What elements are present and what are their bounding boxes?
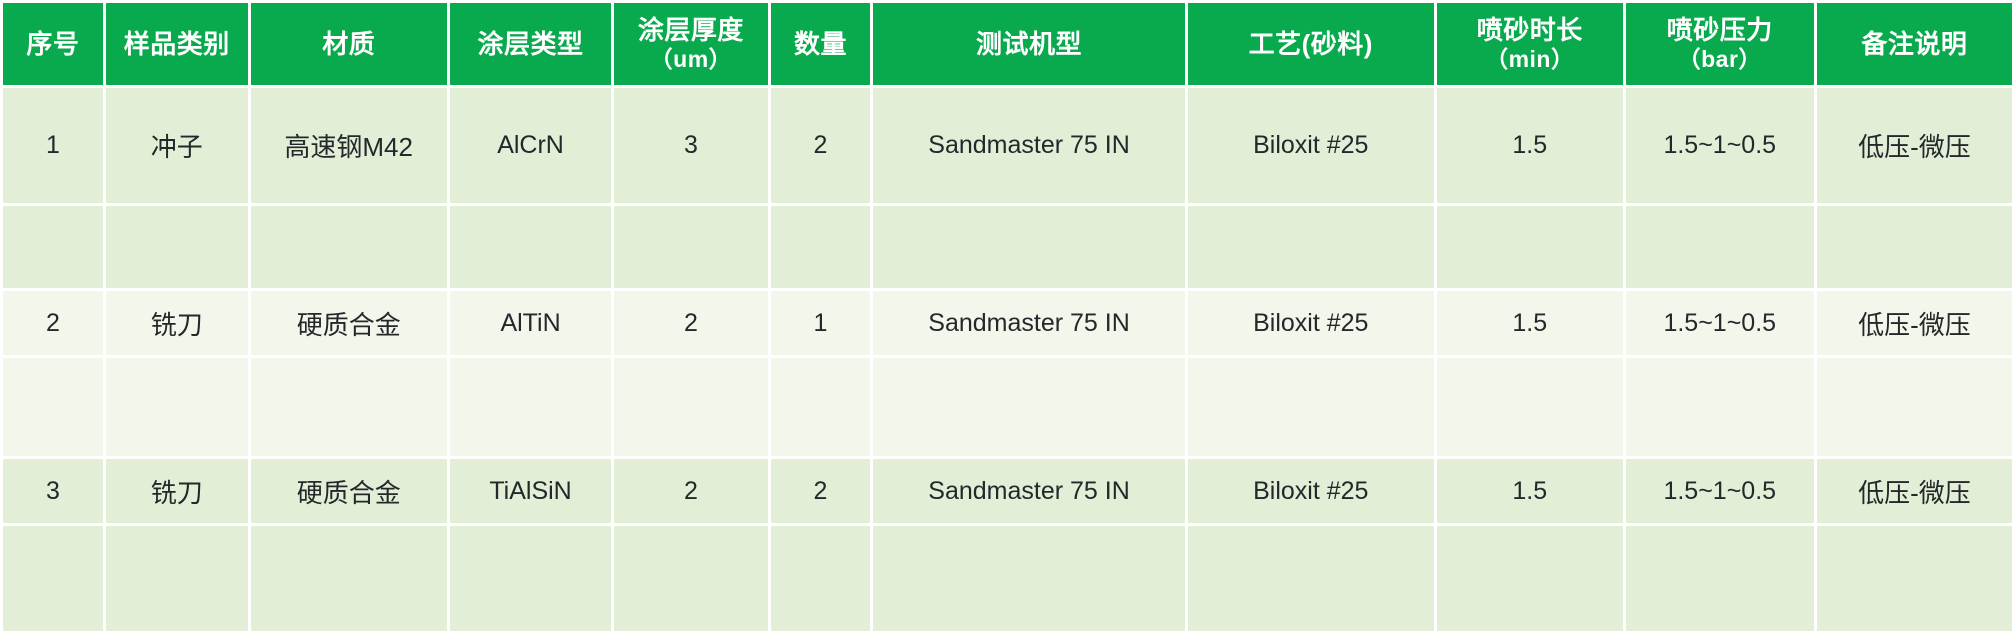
column-header-pressure[interactable]: 喷砂压力 （bar）: [1626, 3, 1814, 85]
cell-material: 硬质合金: [251, 291, 447, 355]
cell-seq: 3: [3, 459, 103, 523]
spacer-cell: [1188, 526, 1434, 631]
spacer-cell: [1817, 526, 2012, 631]
table-row[interactable]: 1 冲子 高速钢M42 AlCrN 3 2 Sandmaster 75 IN B…: [3, 88, 2012, 203]
column-header-machine-label: 测试机型: [976, 29, 1082, 59]
cell-process: Biloxit #25: [1188, 459, 1434, 523]
column-header-category[interactable]: 样品类别: [106, 3, 248, 85]
cell-seq: 1: [3, 88, 103, 203]
spacer-cell: [251, 358, 447, 456]
cell-quantity: 2: [771, 459, 871, 523]
cell-pressure: 1.5~1~0.5: [1626, 88, 1814, 203]
column-header-time-unit: （min）: [1443, 46, 1617, 73]
column-header-time-label: 喷砂时长: [1477, 15, 1583, 45]
cell-machine: Sandmaster 75 IN: [873, 459, 1184, 523]
column-header-time[interactable]: 喷砂时长 （min）: [1437, 3, 1623, 85]
table-row-spacer: [3, 526, 2012, 631]
spacer-cell: [106, 358, 248, 456]
column-header-pressure-unit: （bar）: [1632, 46, 1808, 73]
column-header-pressure-label: 喷砂压力: [1667, 15, 1773, 45]
cell-time: 1.5: [1437, 291, 1623, 355]
cell-quantity: 2: [771, 88, 871, 203]
column-header-coating[interactable]: 涂层类型: [450, 3, 611, 85]
spacer-cell: [614, 206, 767, 288]
cell-quantity: 1: [771, 291, 871, 355]
column-header-quantity[interactable]: 数量: [771, 3, 871, 85]
spacer-cell: [1817, 206, 2012, 288]
spacer-cell: [251, 206, 447, 288]
cell-remark: 低压-微压: [1817, 291, 2012, 355]
spacer-cell: [3, 206, 103, 288]
column-header-thickness[interactable]: 涂层厚度 （um）: [614, 3, 767, 85]
cell-machine: Sandmaster 75 IN: [873, 88, 1184, 203]
column-header-thickness-label: 涂层厚度: [638, 15, 744, 45]
spacer-cell: [873, 358, 1184, 456]
cell-thickness: 3: [614, 88, 767, 203]
column-header-coating-label: 涂层类型: [478, 29, 584, 59]
spacer-cell: [771, 206, 871, 288]
spacer-cell: [1437, 526, 1623, 631]
column-header-category-label: 样品类别: [124, 29, 230, 59]
column-header-material-label: 材质: [322, 29, 375, 59]
spacer-cell: [3, 358, 103, 456]
column-header-remark[interactable]: 备注说明: [1817, 3, 2012, 85]
spacer-cell: [614, 358, 767, 456]
spacer-cell: [106, 206, 248, 288]
column-header-seq-label: 序号: [26, 29, 79, 59]
table-row[interactable]: 2 铣刀 硬质合金 AlTiN 2 1 Sandmaster 75 IN Bil…: [3, 291, 2012, 355]
cell-category: 冲子: [106, 88, 248, 203]
sample-parameter-table: 序号 样品类别 材质 涂层类型 涂层厚度 （um） 数量: [0, 0, 2015, 634]
column-header-remark-label: 备注说明: [1861, 29, 1967, 59]
cell-category: 铣刀: [106, 291, 248, 355]
spacer-cell: [450, 358, 611, 456]
spacer-cell: [1188, 206, 1434, 288]
table-row[interactable]: 3 铣刀 硬质合金 TiAlSiN 2 2 Sandmaster 75 IN B…: [3, 459, 2012, 523]
cell-process: Biloxit #25: [1188, 88, 1434, 203]
sample-parameter-table-container: 序号 样品类别 材质 涂层类型 涂层厚度 （um） 数量: [0, 0, 2015, 637]
spacer-cell: [106, 526, 248, 631]
column-header-quantity-label: 数量: [794, 29, 847, 59]
cell-coating: AlTiN: [450, 291, 611, 355]
column-header-process-label: 工艺(砂料): [1249, 29, 1373, 59]
cell-material: 高速钢M42: [251, 88, 447, 203]
spacer-cell: [450, 206, 611, 288]
column-header-machine[interactable]: 测试机型: [873, 3, 1184, 85]
spacer-cell: [771, 358, 871, 456]
spacer-cell: [1626, 526, 1814, 631]
spacer-cell: [1437, 206, 1623, 288]
spacer-cell: [1626, 206, 1814, 288]
table-row-spacer: [3, 206, 2012, 288]
column-header-thickness-unit: （um）: [620, 46, 761, 73]
spacer-cell: [873, 526, 1184, 631]
table-row-spacer: [3, 358, 2012, 456]
cell-remark: 低压-微压: [1817, 459, 2012, 523]
cell-thickness: 2: [614, 291, 767, 355]
cell-process: Biloxit #25: [1188, 291, 1434, 355]
cell-category: 铣刀: [106, 459, 248, 523]
spacer-cell: [873, 206, 1184, 288]
spacer-cell: [1188, 358, 1434, 456]
table-header: 序号 样品类别 材质 涂层类型 涂层厚度 （um） 数量: [3, 3, 2012, 85]
table-body: 1 冲子 高速钢M42 AlCrN 3 2 Sandmaster 75 IN B…: [3, 88, 2012, 631]
cell-pressure: 1.5~1~0.5: [1626, 291, 1814, 355]
cell-coating: TiAlSiN: [450, 459, 611, 523]
cell-remark: 低压-微压: [1817, 88, 2012, 203]
spacer-cell: [1626, 358, 1814, 456]
spacer-cell: [450, 526, 611, 631]
cell-thickness: 2: [614, 459, 767, 523]
spacer-cell: [251, 526, 447, 631]
spacer-cell: [614, 526, 767, 631]
cell-seq: 2: [3, 291, 103, 355]
cell-machine: Sandmaster 75 IN: [873, 291, 1184, 355]
spacer-cell: [3, 526, 103, 631]
spacer-cell: [1437, 358, 1623, 456]
column-header-material[interactable]: 材质: [251, 3, 447, 85]
spacer-cell: [1817, 358, 2012, 456]
cell-time: 1.5: [1437, 459, 1623, 523]
column-header-process[interactable]: 工艺(砂料): [1188, 3, 1434, 85]
cell-material: 硬质合金: [251, 459, 447, 523]
cell-time: 1.5: [1437, 88, 1623, 203]
cell-coating: AlCrN: [450, 88, 611, 203]
cell-pressure: 1.5~1~0.5: [1626, 459, 1814, 523]
header-row: 序号 样品类别 材质 涂层类型 涂层厚度 （um） 数量: [3, 3, 2012, 85]
spacer-cell: [771, 526, 871, 631]
column-header-seq[interactable]: 序号: [3, 3, 103, 85]
